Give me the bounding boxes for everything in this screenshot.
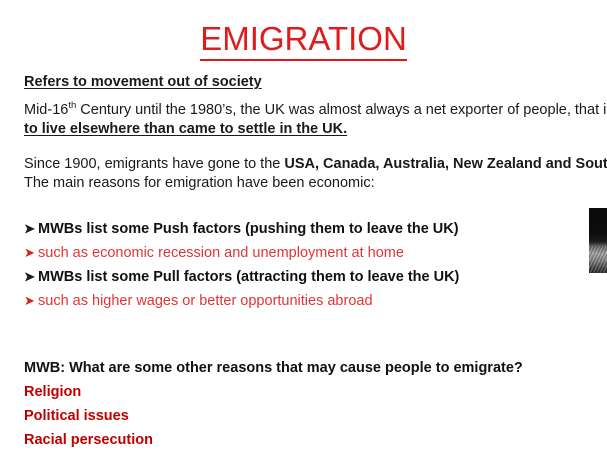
list-item: ➤ MWBs list some Pull factors (attractin… xyxy=(24,265,607,289)
paragraph-line-1-pre: Mid-16 xyxy=(24,102,68,118)
slide-title-container: EMIGRATION xyxy=(0,20,607,61)
spacer xyxy=(24,139,607,155)
page-title: EMIGRATION xyxy=(200,20,407,61)
arrow-bullet-icon: ➤ xyxy=(24,289,38,312)
emigration-photo xyxy=(589,208,607,273)
mwb-answer: Political issues xyxy=(24,404,607,428)
list-item-label: MWBs list some Push factors (pushing the… xyxy=(38,218,459,241)
spacer xyxy=(24,193,607,217)
slide-canvas: EMIGRATION Refers to movement out of soc… xyxy=(0,0,607,455)
mwb-answer: Racial persecution xyxy=(24,428,607,452)
destinations-line: Since 1900, emigrants have gone to the U… xyxy=(24,155,607,174)
paragraph-line-1: Mid-16th Century until the 1980’s, the U… xyxy=(24,101,607,120)
paragraph-line-2: to live elsewhere than came to settle in… xyxy=(24,120,607,139)
destinations-prefix: Since 1900, emigrants have gone to the xyxy=(24,156,284,172)
body-text-block: Refers to movement out of society Mid-16… xyxy=(24,73,607,313)
list-item: ➤ MWBs list some Push factors (pushing t… xyxy=(24,217,607,241)
emigration-photo-image xyxy=(589,208,607,273)
spacer xyxy=(24,92,607,101)
destinations-list: USA, Canada, Australia, New Zealand and … xyxy=(284,156,607,172)
mwb-question: MWB: What are some other reasons that ma… xyxy=(24,357,607,380)
list-item: ➤ such as higher wages or better opportu… xyxy=(24,289,607,313)
list-item-label: such as higher wages or better opportuni… xyxy=(38,290,373,313)
mwb-block: MWB: What are some other reasons that ma… xyxy=(24,357,607,452)
list-item: ➤ such as economic recession and unemplo… xyxy=(24,241,607,265)
arrow-bullet-icon: ➤ xyxy=(24,241,38,264)
list-item-label: such as economic recession and unemploym… xyxy=(38,242,404,265)
paragraph-line-1-post: Century until the 1980’s, the UK was alm… xyxy=(76,102,607,118)
reasons-line: The main reasons for emigration have bee… xyxy=(24,174,607,193)
list-item-label: MWBs list some Pull factors (attracting … xyxy=(38,266,459,289)
arrow-bullet-icon: ➤ xyxy=(24,217,38,240)
definition-heading: Refers to movement out of society xyxy=(24,73,607,92)
mwb-answer: Religion xyxy=(24,380,607,404)
arrow-bullet-icon: ➤ xyxy=(24,265,38,288)
